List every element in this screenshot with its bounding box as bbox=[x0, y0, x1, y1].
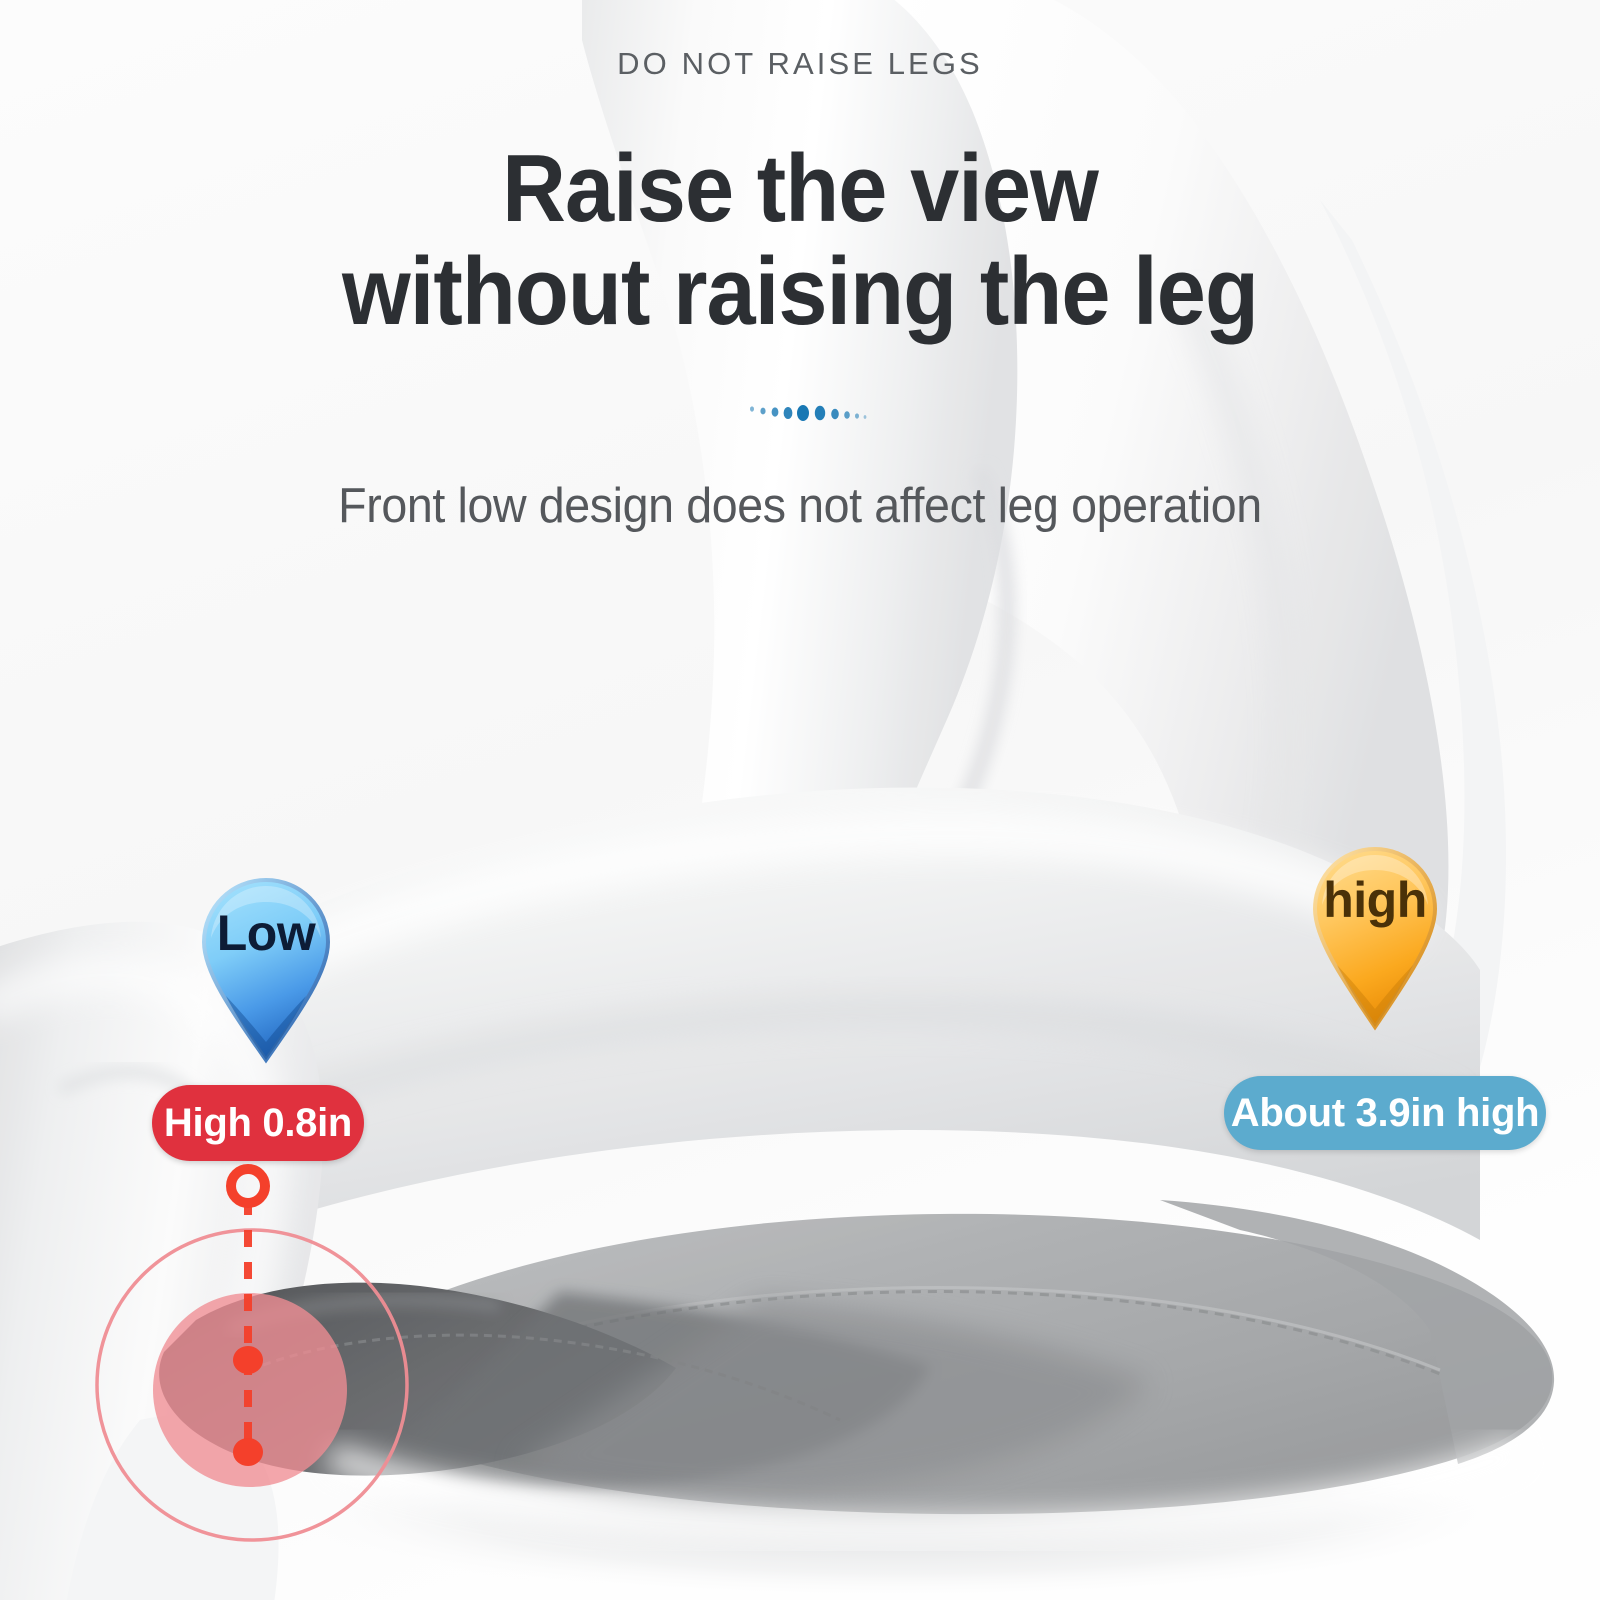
map-pin-icon bbox=[1310, 845, 1440, 1031]
measure-dot-upper bbox=[233, 1346, 263, 1374]
rear-height-badge[interactable]: About 3.9in high bbox=[1224, 1076, 1546, 1150]
low-height-map-pin[interactable]: Low bbox=[197, 876, 335, 1064]
high-height-map-pin[interactable]: high bbox=[1310, 845, 1440, 1031]
kicker-text: DO NOT RAISE LEGS bbox=[0, 46, 1600, 82]
product-infographic: DO NOT RAISE LEGS Raise the view without… bbox=[0, 0, 1600, 1600]
page-title: Raise the view without raising the leg bbox=[64, 138, 1536, 343]
map-pin-icon bbox=[197, 876, 335, 1064]
front-edge-height-highlight bbox=[80, 1150, 440, 1600]
subtitle-text: Front low design does not affect leg ope… bbox=[40, 478, 1560, 534]
measure-dot-lower bbox=[233, 1438, 263, 1466]
measure-top-ring-marker bbox=[231, 1169, 265, 1203]
blue-dots-arc-divider bbox=[745, 385, 875, 435]
